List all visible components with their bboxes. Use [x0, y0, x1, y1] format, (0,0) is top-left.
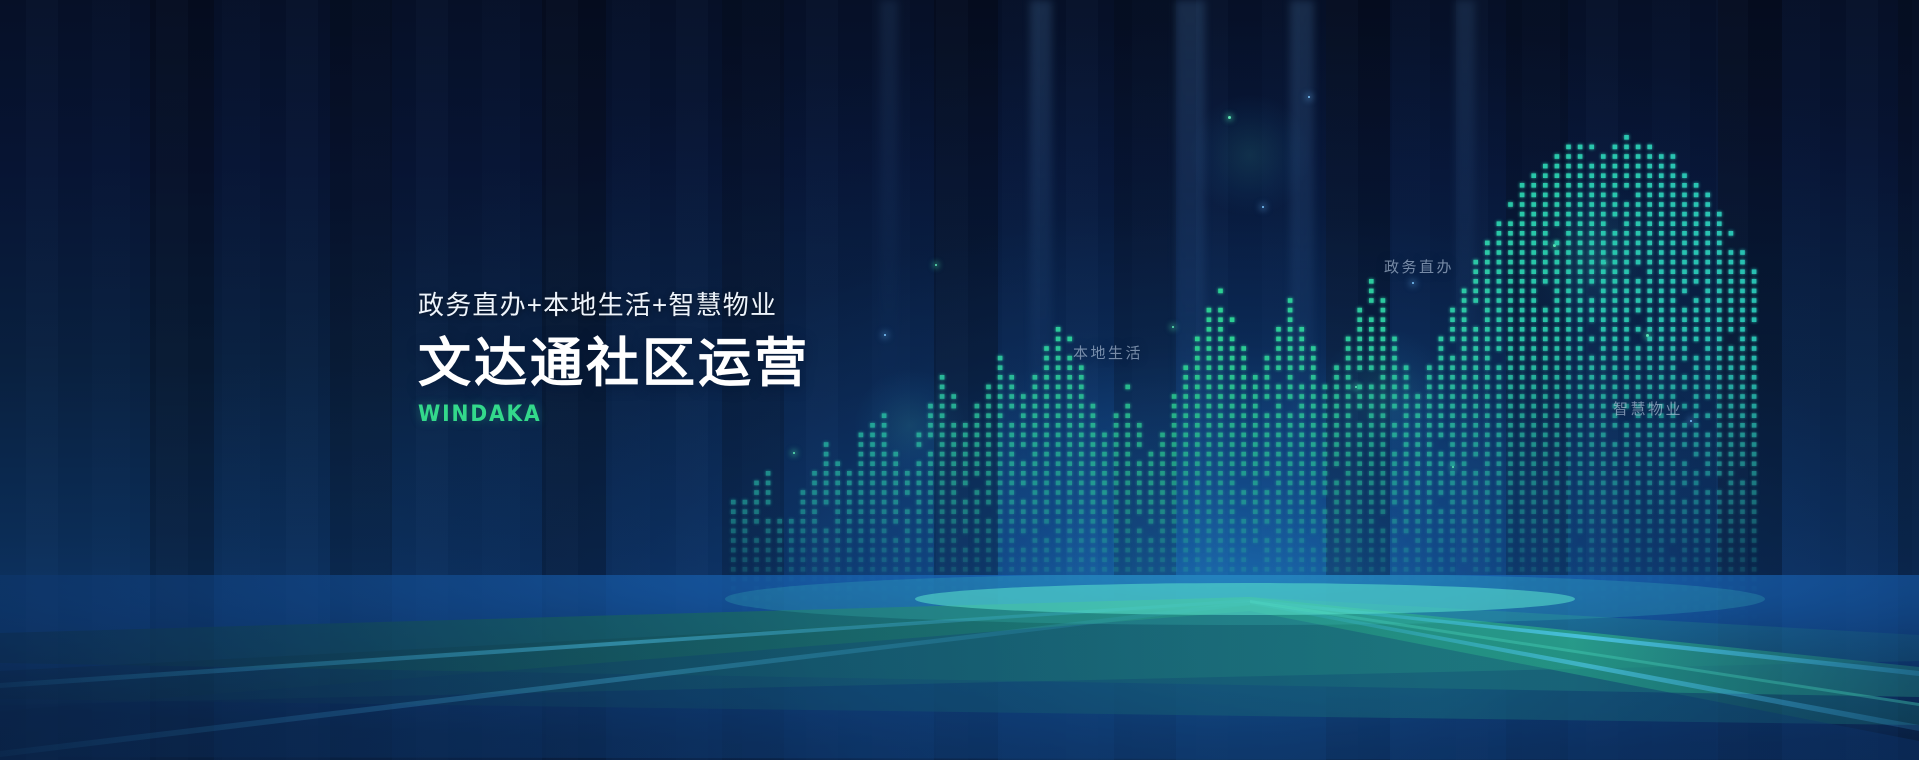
ground-perspective-plane — [0, 575, 1919, 760]
banner-text-block: 政务直办+本地生活+智慧物业 文达通社区运营 WINDAKA — [418, 292, 810, 426]
banner-subtitle: 政务直办+本地生活+智慧物业 — [418, 292, 810, 318]
banner-root: 政务直办 本地生活 智慧物业 政务直办+本地生活+智慧物业 文达通社区运营 WI… — [0, 0, 1919, 760]
skyline-label-zhihui: 智慧物业 — [1613, 398, 1683, 419]
skyline-label-zhengwu: 政务直办 — [1384, 256, 1454, 277]
dot-matrix-skyline-chart — [0, 0, 1919, 620]
brand-wordmark: WINDAKA — [418, 404, 779, 426]
skyline-label-bendi: 本地生活 — [1073, 342, 1143, 363]
banner-headline: 文达通社区运营 — [418, 336, 810, 392]
